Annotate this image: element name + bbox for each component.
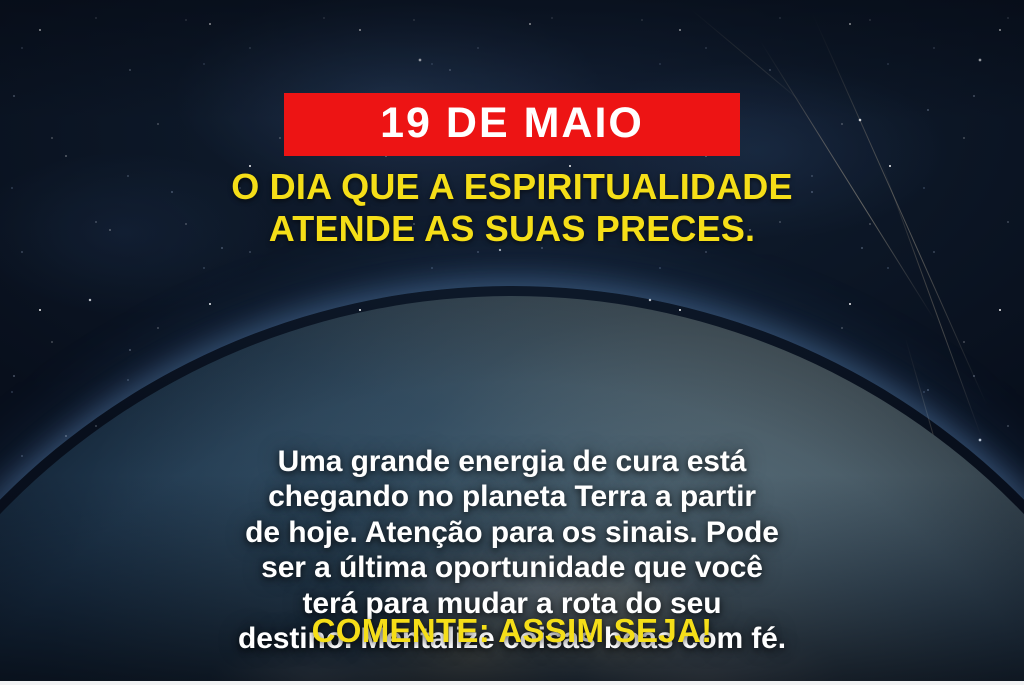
poster-canvas: 19 DE MAIO O DIA QUE A ESPIRITUALIDADE A… <box>0 0 1024 685</box>
body-line-1: Uma grande energia de cura está <box>52 444 972 479</box>
call-to-action-text: COMENTE: ASSIM SEJA! <box>0 614 1024 647</box>
body-line-4: ser a última oportunidade que você <box>52 550 972 585</box>
body-line-3: de hoje. Atenção para os sinais. Pode <box>52 515 972 550</box>
headline: O DIA QUE A ESPIRITUALIDADE ATENDE AS SU… <box>0 166 1024 250</box>
date-banner: 19 DE MAIO <box>284 93 740 156</box>
headline-line-1: O DIA QUE A ESPIRITUALIDADE <box>40 166 984 208</box>
headline-line-2: ATENDE AS SUAS PRECES. <box>40 208 984 250</box>
bottom-border-strip <box>0 681 1024 685</box>
poster-content: 19 DE MAIO O DIA QUE A ESPIRITUALIDADE A… <box>0 0 1024 685</box>
body-line-2: chegando no planeta Terra a partir <box>52 479 972 514</box>
date-banner-label: 19 DE MAIO <box>380 102 644 145</box>
